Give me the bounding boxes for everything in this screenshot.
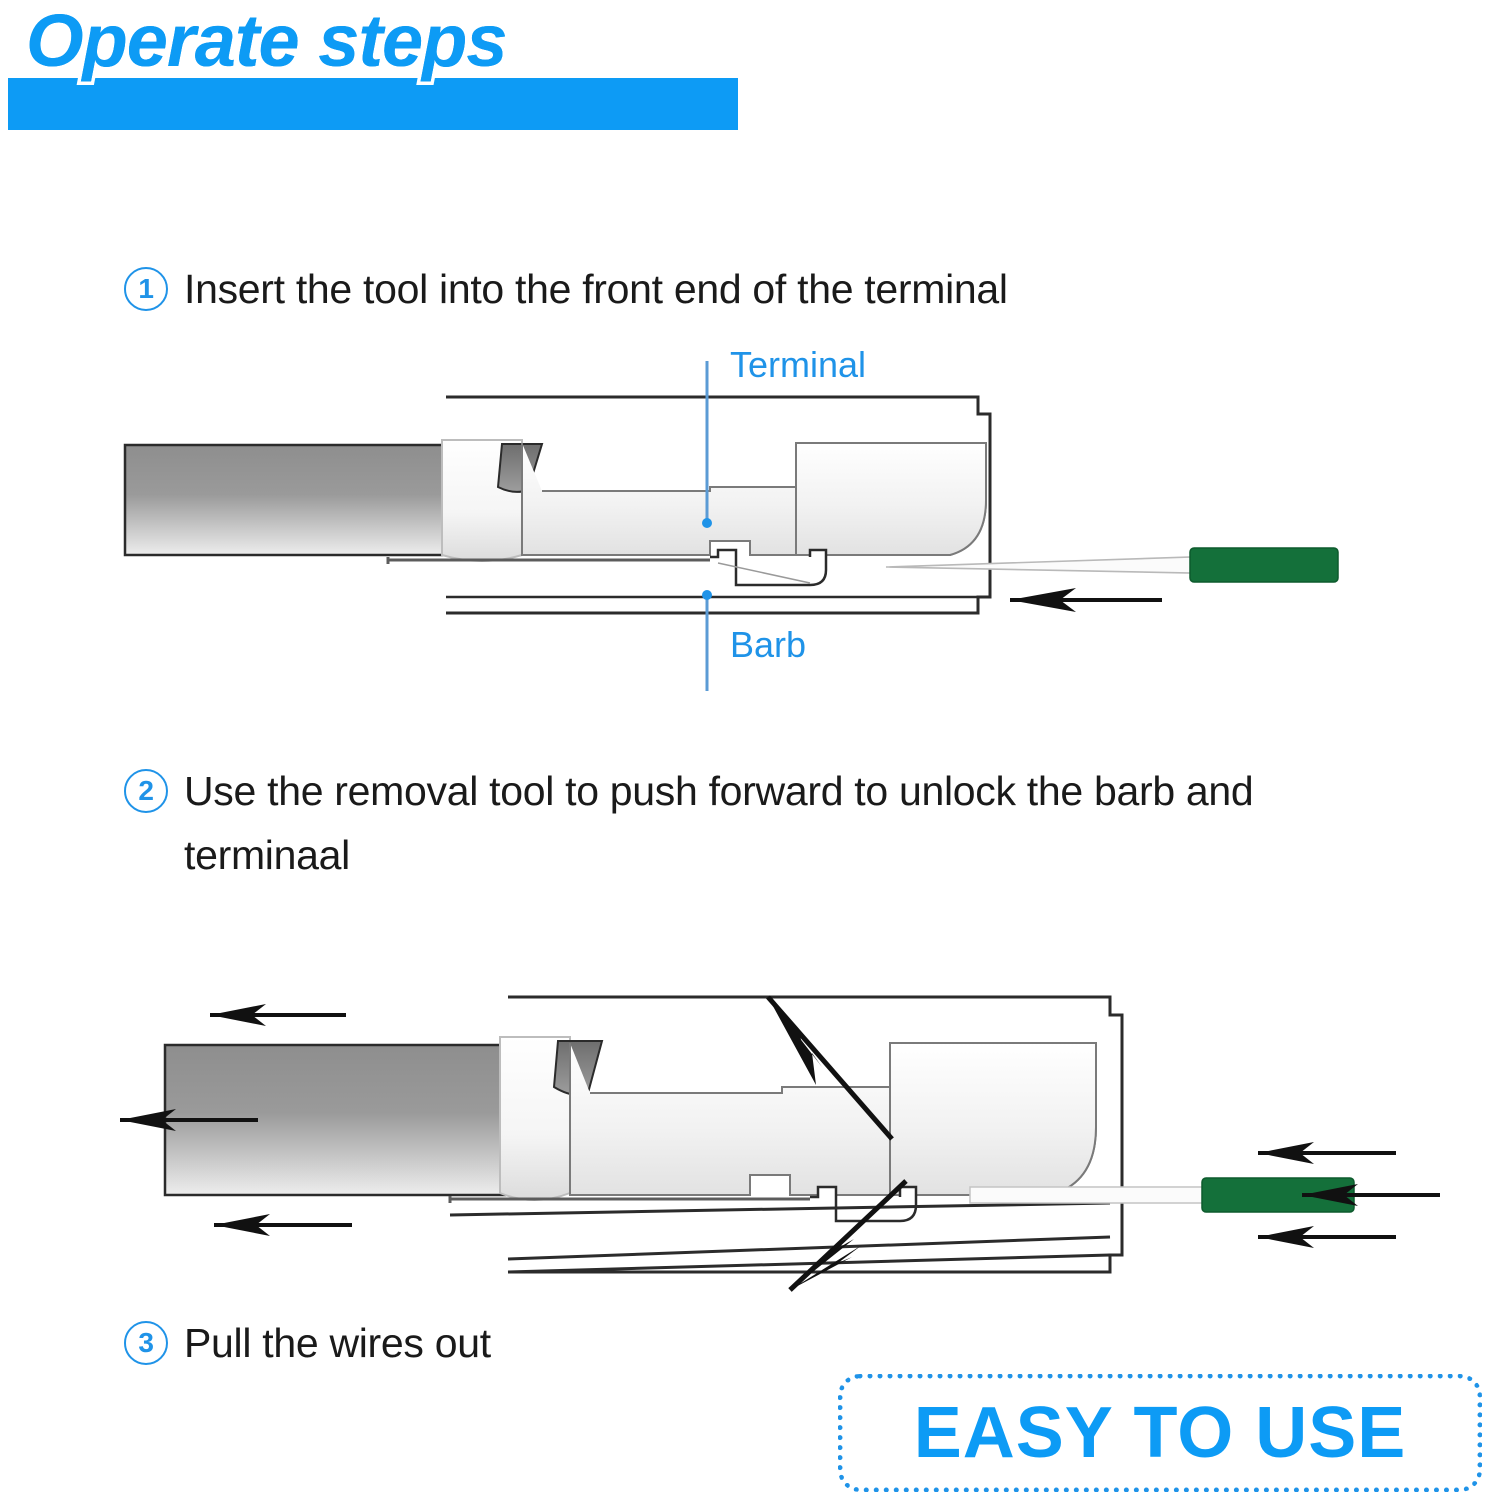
step-3-number: 3 [124, 1321, 168, 1365]
easy-to-use-label: EASY TO USE [914, 1392, 1407, 1474]
step-2-number: 2 [124, 769, 168, 813]
step-2: 2 Use the removal tool to push forward t… [124, 760, 1374, 887]
diagram-push-tool [110, 975, 1470, 1310]
diagram-insert-tool: Terminal Barb [110, 345, 1440, 710]
terminal-label: Terminal [730, 345, 866, 385]
page-title: Operate steps [26, 2, 507, 80]
step-1-number: 1 [124, 267, 168, 311]
step-1: 1 Insert the tool into the front end of … [124, 258, 1008, 322]
title-banner [8, 78, 738, 130]
easy-to-use-badge: EASY TO USE [838, 1374, 1482, 1492]
step-3: 3 Pull the wires out [124, 1312, 491, 1376]
barb-label: Barb [730, 624, 806, 665]
step-1-label: Insert the tool into the front end of th… [184, 258, 1008, 322]
arrow-left-1 [1010, 588, 1162, 612]
step-2-label: Use the removal tool to push forward to … [184, 760, 1374, 887]
step-3-label: Pull the wires out [184, 1312, 491, 1376]
